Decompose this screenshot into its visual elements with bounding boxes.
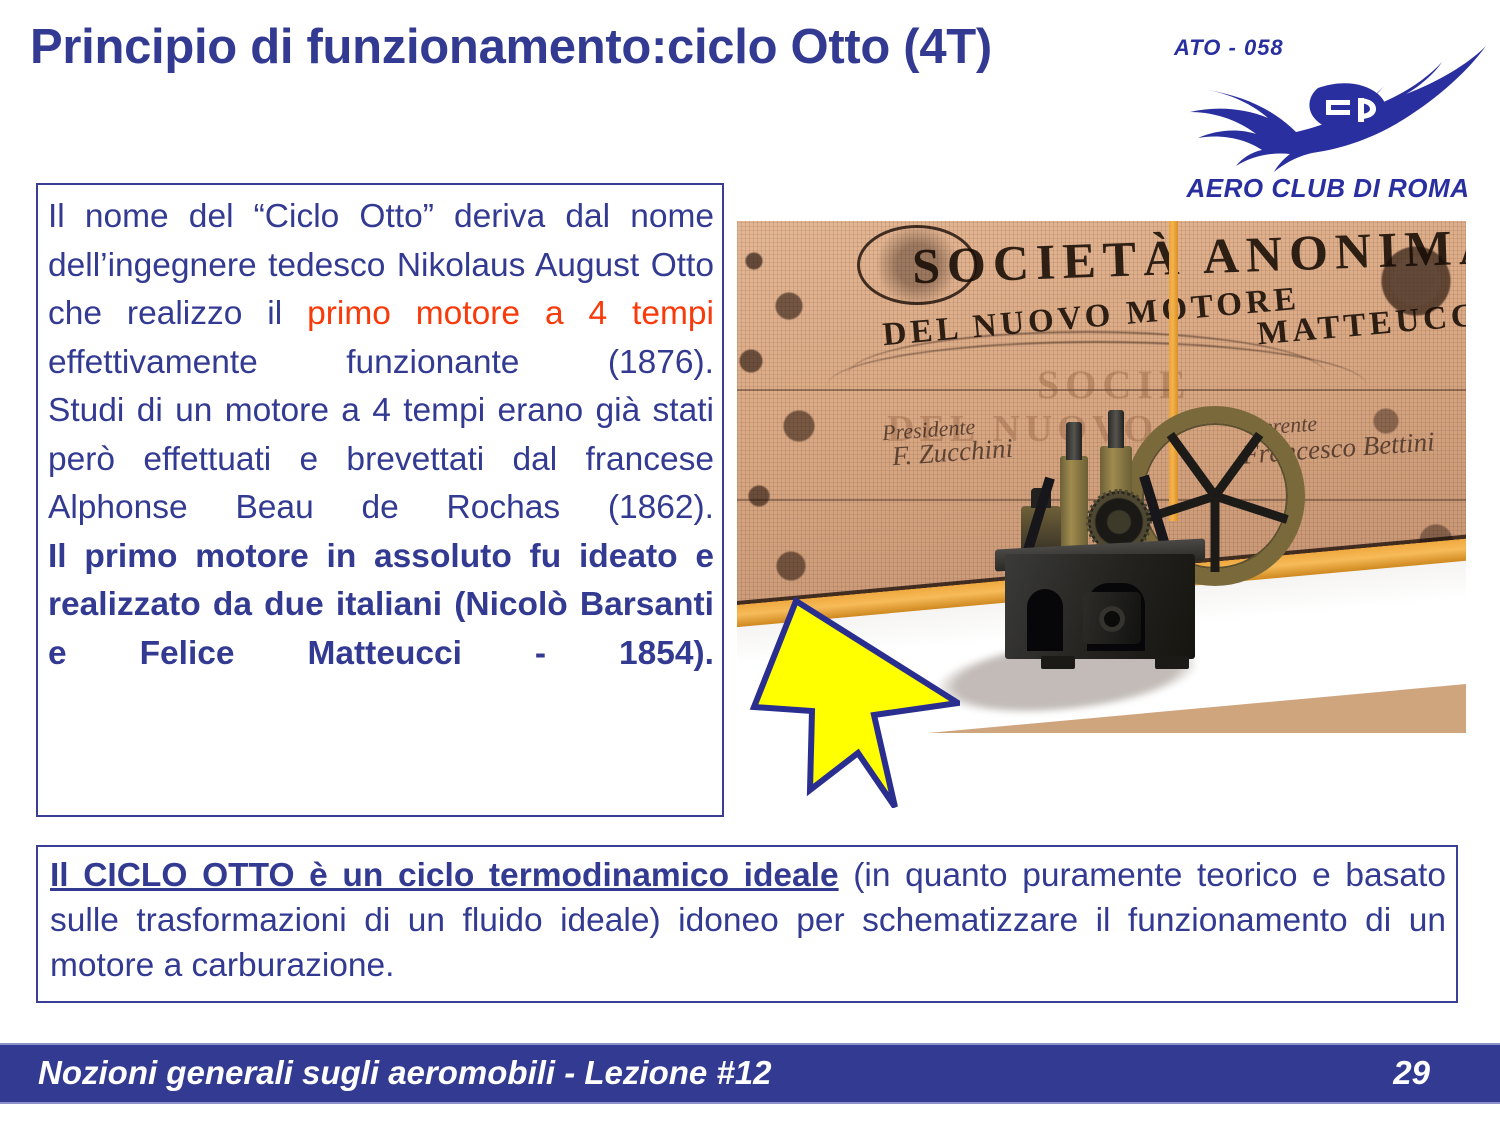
- engine-foot-right: [1155, 656, 1189, 669]
- footer-bar: Nozioni generali sugli aeromobili - Lezi…: [0, 1043, 1500, 1104]
- paragraph-ciclo-otto-definition: Il CICLO OTTO è un ciclo termodinamico i…: [50, 853, 1446, 988]
- slide-canvas: Principio di funzionamento:ciclo Otto (4…: [0, 0, 1500, 1125]
- description-text-box: Il nome del “Ciclo Otto” deriva dal nome…: [36, 183, 724, 817]
- paragraph-italian-inventors: Il primo motore in assoluto fu ideato e …: [48, 533, 714, 679]
- paragraph-beau-de-rochas: Studi di un motore a 4 tempi erano già s…: [48, 387, 714, 533]
- footer-page-number: 29: [1393, 1054, 1430, 1092]
- para1-red-highlight: primo motore a 4 tempi: [307, 295, 714, 332]
- aero-club-logo: ATO - 058 AERO CLUB DI ROMA: [1168, 18, 1488, 208]
- engine-crank-assembly: [1083, 592, 1141, 644]
- engine-cylinder-cap-right: [1108, 410, 1124, 448]
- engine-cylinder-left: [1060, 456, 1088, 556]
- engine-base-arch-left: [1027, 589, 1063, 651]
- page-title: Principio di funzionamento:ciclo Otto (4…: [30, 22, 1160, 73]
- engine-foot-left: [1041, 656, 1075, 669]
- engine-cylinder-cap-left: [1066, 422, 1082, 460]
- para1-post: effettivamente funzionante (1876).: [48, 344, 714, 381]
- paragraph-otto-origin: Il nome del “Ciclo Otto” deriva dal nome…: [48, 193, 714, 387]
- definition-text-box: Il CICLO OTTO è un ciclo termodinamico i…: [36, 845, 1458, 1003]
- yellow-pointer-arrow: [740, 583, 960, 808]
- barsanti-matteucci-engine-model: [965, 306, 1265, 676]
- club-name-label: AERO CLUB DI ROMA: [1178, 173, 1478, 204]
- eagle-icon: [1168, 42, 1488, 172]
- footer-lesson-label: Nozioni generali sugli aeromobili - Lezi…: [38, 1054, 771, 1092]
- definition-highlight: Il CICLO OTTO è un ciclo termodinamico i…: [50, 857, 839, 894]
